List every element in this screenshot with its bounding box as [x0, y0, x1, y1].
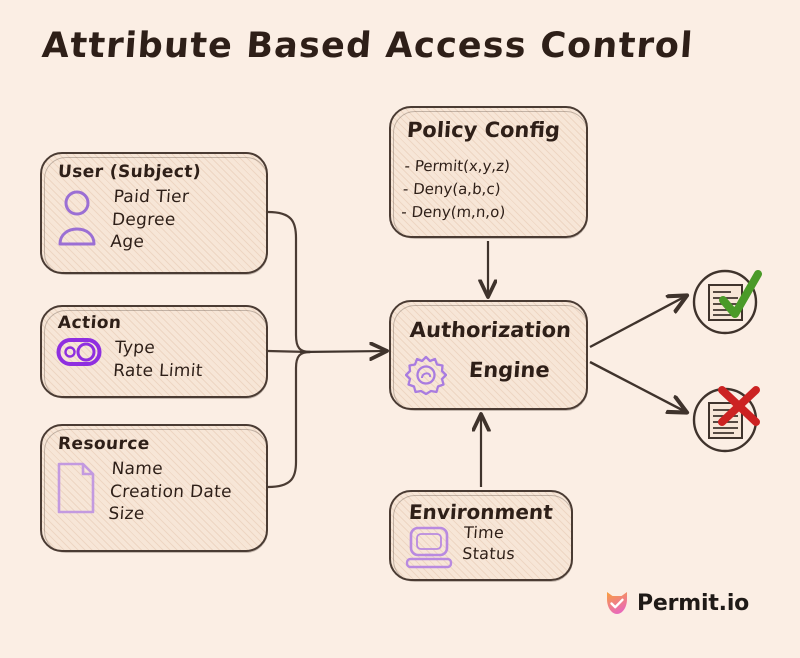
resource-attribute: Creation Date [109, 481, 232, 504]
engine-title-line1: Authorization [402, 318, 579, 342]
gear-icon [405, 354, 447, 396]
policy-config-title: Policy Config [406, 118, 561, 142]
policy-rule: - Deny(m,n,o) [401, 201, 508, 224]
user-attribute: Age [110, 231, 187, 254]
permit-cat-icon [604, 590, 630, 616]
inputs-merge-brace [268, 212, 310, 487]
document-icon [56, 462, 96, 514]
environment-box-title: Environment [408, 500, 554, 524]
monitor-icon [405, 526, 453, 572]
policy-rule-list: - Permit(x,y,z) - Deny(a,b,c) - Deny(m,n… [401, 155, 511, 223]
environment-box[interactable]: Environment Time Status [389, 490, 573, 581]
arrow-engine-to-allow [590, 296, 686, 347]
deny-result[interactable] [690, 378, 766, 454]
user-attribute: Degree [111, 209, 188, 232]
policy-rule: - Permit(x,y,z) [404, 155, 511, 178]
environment-attribute: Time [463, 522, 517, 543]
user-attribute: Paid Tier [113, 186, 190, 209]
resource-attribute: Name [111, 458, 234, 481]
arrow-engine-to-deny [590, 362, 686, 412]
allow-result[interactable] [690, 262, 766, 338]
authorization-engine-box[interactable]: Authorization Engine [389, 300, 588, 410]
user-box-title: User (Subject) [57, 162, 201, 182]
resource-box-title: Resource [57, 434, 150, 454]
logo-text: Permit.io [637, 591, 749, 616]
user-subject-box[interactable]: User (Subject) Paid Tier Degree Age [40, 152, 268, 274]
resource-box[interactable]: Resource Name Creation Date Size [40, 424, 268, 552]
action-attribute-list: Type Rate Limit [112, 337, 205, 382]
environment-attribute: Status [462, 543, 516, 564]
resource-attribute: Size [108, 503, 231, 526]
arrow-inputs-to-engine [300, 351, 386, 352]
action-attribute: Rate Limit [112, 360, 203, 383]
person-icon [56, 190, 98, 246]
action-box-title: Action [57, 313, 122, 333]
user-attribute-list: Paid Tier Degree Age [110, 186, 190, 254]
toggle-icon [56, 337, 102, 367]
page-title: Attribute Based Access Control [41, 26, 695, 66]
action-attribute: Type [114, 337, 205, 360]
policy-rule: - Deny(a,b,c) [402, 178, 509, 201]
diagram-canvas: Attribute Based Access Control User (Sub… [0, 0, 800, 658]
resource-attribute-list: Name Creation Date Size [108, 458, 235, 526]
environment-attribute-list: Time Status [462, 522, 518, 565]
policy-config-box[interactable]: Policy Config - Permit(x,y,z) - Deny(a,b… [389, 106, 588, 238]
permit-io-logo[interactable]: Permit.io [604, 590, 749, 616]
engine-title-line2: Engine [468, 358, 550, 382]
action-box[interactable]: Action Type Rate Limit [40, 305, 268, 398]
